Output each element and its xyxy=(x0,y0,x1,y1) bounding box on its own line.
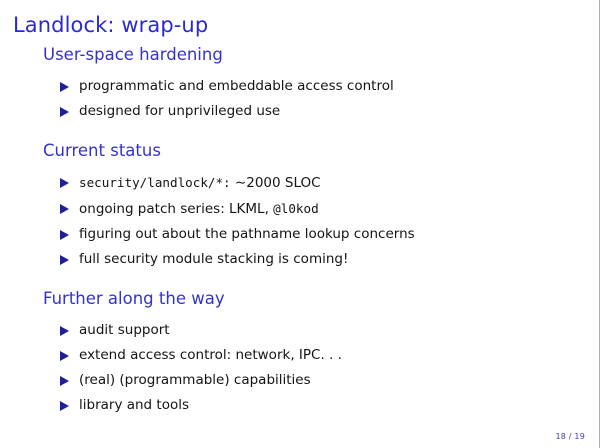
bullet-item: designed for unprivileged use xyxy=(0,99,600,124)
triangle-bullet-icon xyxy=(60,107,69,117)
content-block: Current statussecurity/landlock/*: ∼2000… xyxy=(0,140,600,272)
triangle-bullet-icon xyxy=(60,401,69,411)
content-block: User-space hardeningprogrammatic and emb… xyxy=(0,44,600,124)
slide-body: User-space hardeningprogrammatic and emb… xyxy=(0,44,600,418)
bullet-item: security/landlock/*: ∼2000 SLOC xyxy=(0,170,600,196)
triangle-bullet-icon xyxy=(60,326,69,336)
block-heading: Current status xyxy=(43,140,600,162)
bullet-text: designed for unprivileged use xyxy=(79,103,280,119)
bullet-item: programmatic and embeddable access contr… xyxy=(0,74,600,99)
bullet-text: library and tools xyxy=(79,397,189,413)
triangle-bullet-icon xyxy=(60,376,69,386)
bullet-item: audit support xyxy=(0,318,600,343)
bullet-list: security/landlock/*: ∼2000 SLOCongoing p… xyxy=(0,170,600,272)
bullet-item: extend access control: network, IPC. . . xyxy=(0,343,600,368)
bullet-text: extend access control: network, IPC. . . xyxy=(79,347,342,363)
bullet-item: figuring out about the pathname lookup c… xyxy=(0,222,600,247)
presentation-slide: Landlock: wrap-up User-space hardeningpr… xyxy=(0,0,600,448)
triangle-bullet-icon xyxy=(60,351,69,361)
bullet-item: full security module stacking is coming! xyxy=(0,247,600,272)
block-heading: Further along the way xyxy=(43,288,600,310)
bullet-text: @l0kod xyxy=(273,201,319,216)
bullet-text: (real) (programmable) capabilities xyxy=(79,372,311,388)
content-block: Further along the wayaudit supportextend… xyxy=(0,288,600,418)
page-number: 18 / 19 xyxy=(555,432,585,441)
bullet-text: full security module stacking is coming! xyxy=(79,251,348,267)
bullet-list: programmatic and embeddable access contr… xyxy=(0,74,600,124)
bullet-item: ongoing patch series: LKML, @l0kod xyxy=(0,196,600,222)
bullet-text: security/landlock/*: xyxy=(79,175,231,190)
bullet-item: (real) (programmable) capabilities xyxy=(0,368,600,393)
triangle-bullet-icon xyxy=(60,255,69,265)
bullet-item: library and tools xyxy=(0,393,600,418)
triangle-bullet-icon xyxy=(60,82,69,92)
bullet-text: figuring out about the pathname lookup c… xyxy=(79,226,415,242)
triangle-bullet-icon xyxy=(60,204,69,214)
bullet-list: audit supportextend access control: netw… xyxy=(0,318,600,418)
slide-title: Landlock: wrap-up xyxy=(13,12,208,38)
block-heading: User-space hardening xyxy=(43,44,600,66)
bullet-text: audit support xyxy=(79,322,170,338)
triangle-bullet-icon xyxy=(60,230,69,240)
bullet-text: programmatic and embeddable access contr… xyxy=(79,78,394,94)
triangle-bullet-icon xyxy=(60,178,69,188)
bullet-text: ∼2000 SLOC xyxy=(231,175,321,191)
bullet-text: ongoing patch series: LKML, xyxy=(79,201,273,217)
